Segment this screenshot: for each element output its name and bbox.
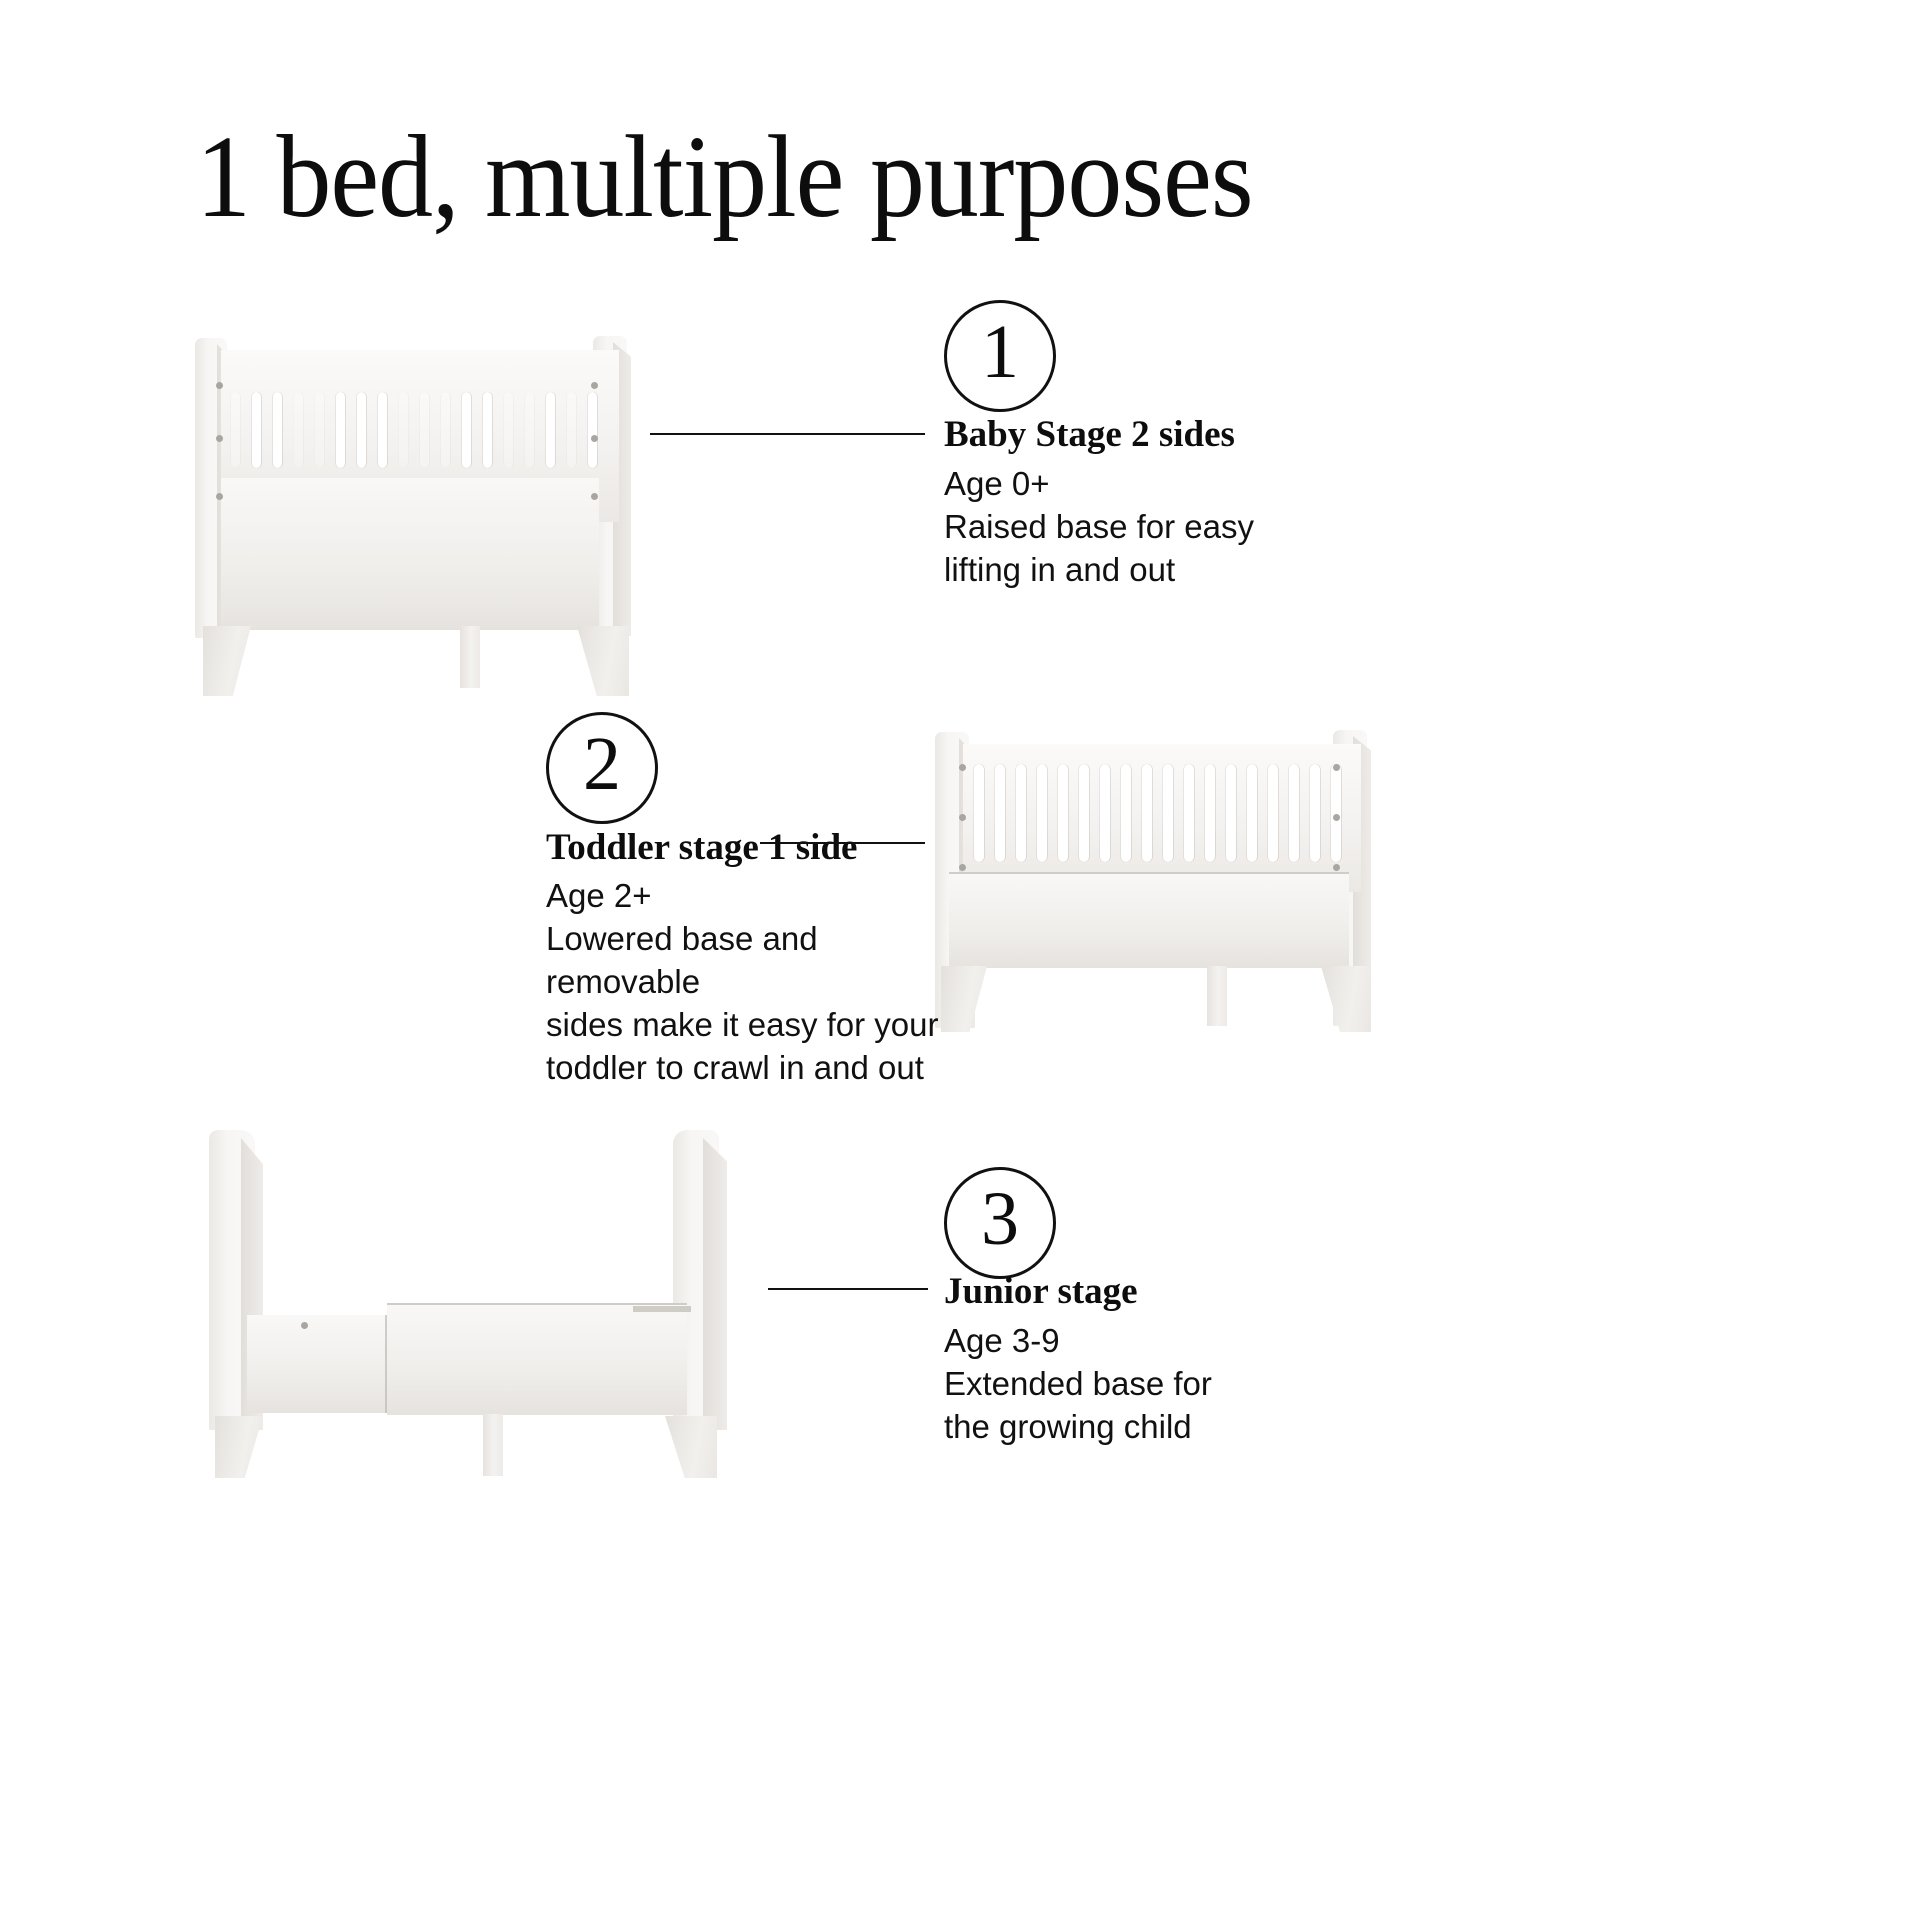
connector-line-stage-1 bbox=[650, 433, 925, 435]
screw-dot bbox=[301, 1322, 308, 1329]
bed-leg-left bbox=[215, 1416, 263, 1478]
stage-body-1: Age 0+ Raised base for easy lifting in a… bbox=[944, 463, 1374, 592]
screw-dot bbox=[216, 435, 223, 442]
page-title: 1 bed, multiple purposes bbox=[196, 118, 1253, 236]
stage-body-3: Age 3-9 Extended base for the growing ch… bbox=[944, 1320, 1374, 1449]
screw-dot bbox=[591, 493, 598, 500]
bed-post-right-shade bbox=[703, 1138, 727, 1430]
stage-heading-3: Junior stage bbox=[944, 1272, 1138, 1313]
screw-dot bbox=[591, 435, 598, 442]
bed-leg-center bbox=[483, 1414, 503, 1476]
bed-leg-left bbox=[203, 626, 251, 696]
stage-body-2: Age 2+ Lowered base and removable sides … bbox=[546, 875, 976, 1089]
screw-dot bbox=[959, 864, 966, 871]
bed-lower-panel bbox=[221, 478, 599, 630]
bed-slat-rail bbox=[963, 744, 1361, 892]
bed-illustration-baby-stage bbox=[195, 330, 635, 645]
connector-line-stage-3 bbox=[768, 1288, 928, 1290]
bed-illustration-junior-stage bbox=[195, 1130, 745, 1450]
stage-number-circle-3: 3 bbox=[944, 1167, 1056, 1279]
screw-dot bbox=[1333, 814, 1340, 821]
stage-heading-1: Baby Stage 2 sides bbox=[944, 415, 1235, 456]
stage-number-3: 3 bbox=[981, 1181, 1019, 1257]
bed-leg-center bbox=[460, 626, 480, 688]
stage-heading-2: Toddler stage 1 side bbox=[546, 828, 857, 869]
connector-line-stage-2 bbox=[760, 842, 925, 844]
bed-leg-right bbox=[665, 1416, 717, 1478]
bed-leg-right bbox=[577, 626, 629, 696]
screw-dot bbox=[959, 764, 966, 771]
screw-dot bbox=[216, 493, 223, 500]
bed-illustration-toddler-stage bbox=[935, 726, 1375, 1036]
bed-leg-center bbox=[1207, 966, 1227, 1026]
stage-number-2: 2 bbox=[583, 726, 621, 802]
screw-dot bbox=[959, 814, 966, 821]
bed-extended-base-rail bbox=[387, 1303, 687, 1415]
stage-number-circle-1: 1 bbox=[944, 300, 1056, 412]
bed-inner-side-rail bbox=[247, 1315, 387, 1413]
bed-leg-right bbox=[1321, 966, 1371, 1032]
base-slat-notch bbox=[633, 1306, 691, 1312]
base-top-edge bbox=[387, 1303, 687, 1305]
stage-number-circle-2: 2 bbox=[546, 712, 658, 824]
screw-dot bbox=[591, 382, 598, 389]
screw-dot bbox=[216, 382, 223, 389]
stage-number-1: 1 bbox=[981, 314, 1019, 390]
bed-front-panel bbox=[949, 872, 1349, 968]
screw-dot bbox=[1333, 864, 1340, 871]
panel-seam bbox=[949, 872, 1349, 874]
screw-dot bbox=[1333, 764, 1340, 771]
